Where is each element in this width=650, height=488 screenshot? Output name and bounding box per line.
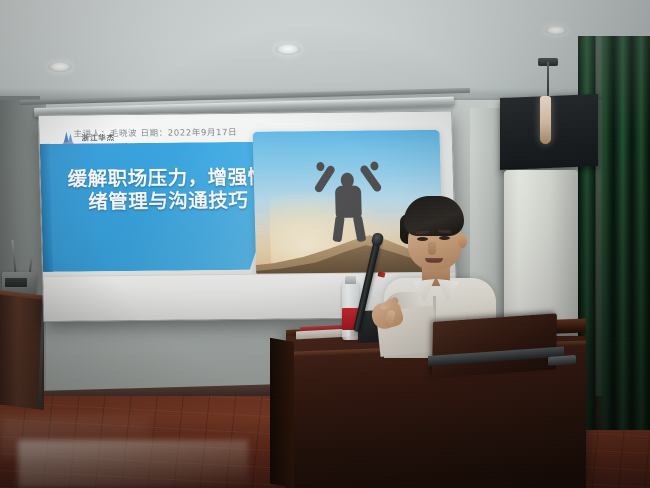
conference-room-photo: 24 浙江华杰 [0, 0, 650, 488]
eye-right [439, 236, 450, 240]
pendant-cable [547, 62, 549, 98]
silhouette-leg-left [332, 215, 344, 242]
ear [458, 234, 467, 248]
downlight-icon [275, 44, 301, 55]
downlight-icon [545, 26, 567, 35]
left-side-table [0, 295, 44, 410]
nose [428, 242, 436, 255]
pendant-lamp-icon [540, 96, 551, 144]
downlight-icon [48, 62, 72, 72]
slide-title: 缓解职场压力，增强情 绪管理与沟通技巧 [54, 165, 281, 213]
silhouette-hand-right [370, 161, 378, 170]
slide-footer-text: 主讲人：毛晓波 日期：2022年9月17日 [73, 126, 237, 140]
hair [404, 196, 464, 236]
silhouette-torso [334, 186, 361, 218]
receiver-display-panel [5, 278, 27, 287]
person-silhouette-icon [316, 161, 380, 240]
bottle-cap [345, 276, 356, 284]
silhouette-hand-left [316, 162, 324, 171]
podium-left-face [270, 338, 294, 488]
silhouette-leg-right [352, 215, 366, 242]
slide-title-line-1: 缓解职场压力，增强情 [54, 165, 281, 190]
slide-title-line-2: 绪管理与沟通技巧 [55, 188, 282, 213]
floor-light-reflection [18, 440, 248, 488]
eye-left [417, 237, 428, 241]
laptop[interactable] [432, 313, 557, 378]
